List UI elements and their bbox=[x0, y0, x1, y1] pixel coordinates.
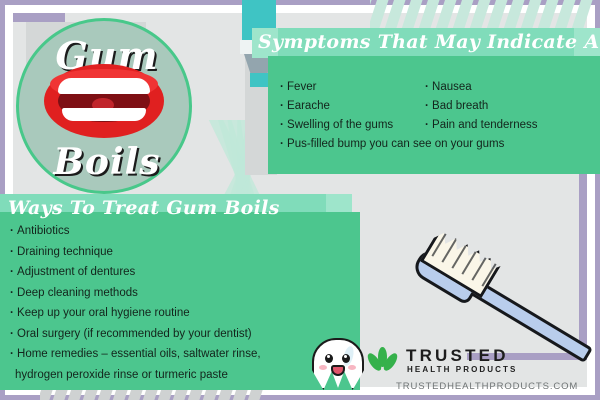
treatment-item: Draining technique bbox=[10, 242, 261, 263]
symptom-item: Swelling of the gums bbox=[280, 116, 393, 135]
symptom-item: Bad breath bbox=[425, 97, 538, 116]
treatment-item: Home remedies – essential oils, saltwate… bbox=[10, 344, 261, 385]
symptom-item: Pus-filled bump you can see on your gums bbox=[280, 135, 504, 154]
symptom-item: Pain and tenderness bbox=[425, 116, 538, 135]
lower-teeth bbox=[62, 108, 146, 121]
tooth-blush-left bbox=[319, 365, 327, 370]
smiling-tooth-mascot-icon bbox=[312, 338, 364, 394]
treatment-item: Oral surgery (if recommended by your den… bbox=[10, 324, 261, 345]
symptom-item: Fever bbox=[280, 78, 393, 97]
treatment-item: Deep cleaning methods bbox=[10, 283, 261, 304]
tooth-body bbox=[312, 338, 364, 390]
brand-subtitle: HEALTH PRODUCTS bbox=[407, 365, 517, 374]
badge-title-bottom: Boils bbox=[19, 141, 195, 183]
brand-website-url: TRUSTEDHEALTHPRODUCTS.COM bbox=[396, 381, 578, 392]
tube-cap bbox=[250, 73, 268, 87]
infographic-canvas: Gum Boils Symptoms That May Indicate A G… bbox=[0, 0, 600, 400]
symptoms-column-left: FeverEaracheSwelling of the gums bbox=[280, 78, 393, 135]
treatments-title: Ways To Treat Gum Boils bbox=[8, 197, 280, 219]
symptom-item: Nausea bbox=[425, 78, 538, 97]
symptom-item: Earache bbox=[280, 97, 393, 116]
tooth-blush-right bbox=[348, 365, 356, 370]
brand-lockup: TRUSTED HEALTH PRODUCTS bbox=[368, 345, 588, 379]
symptoms-column-right: NauseaBad breathPain and tenderness bbox=[425, 78, 538, 135]
treatment-item: Adjustment of dentures bbox=[10, 262, 261, 283]
symptoms-full-width-row: Pus-filled bump you can see on your gums bbox=[280, 135, 504, 154]
open-mouth-icon bbox=[44, 64, 164, 138]
symptoms-title: Symptoms That May Indicate A Gum Boil bbox=[258, 31, 600, 53]
tooth-eye-highlight-right bbox=[344, 355, 347, 358]
treatment-item-wrap: hydrogen peroxide rinse or turmeric past… bbox=[10, 365, 261, 386]
purple-accent-top-left bbox=[13, 13, 65, 22]
brand-name: TRUSTED bbox=[406, 346, 509, 366]
treatment-item: Antibiotics bbox=[10, 221, 261, 242]
tooth-eye-highlight-left bbox=[327, 355, 330, 358]
treatments-list: AntibioticsDraining techniqueAdjustment … bbox=[10, 221, 261, 385]
green-leaf-icon bbox=[368, 347, 398, 375]
treatment-item: Keep up your oral hygiene routine bbox=[10, 303, 261, 324]
toothbrush-icon bbox=[408, 218, 590, 358]
upper-teeth bbox=[58, 78, 150, 94]
